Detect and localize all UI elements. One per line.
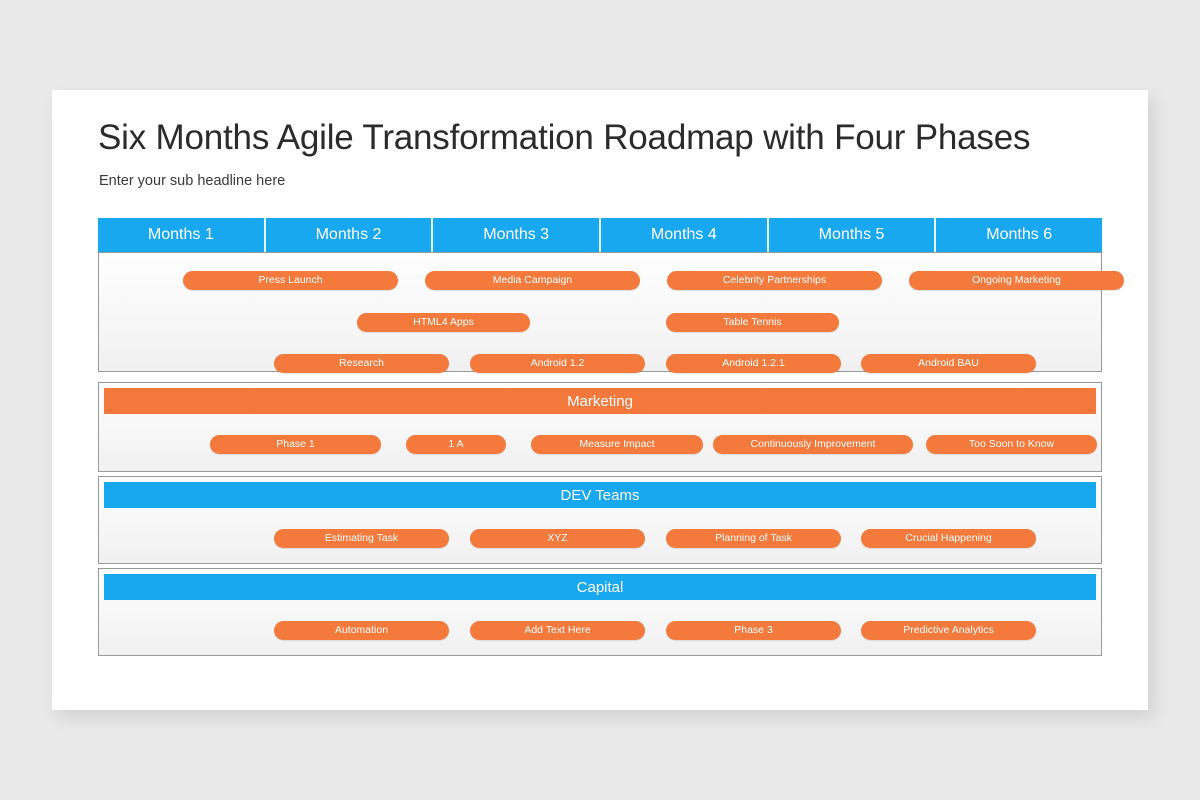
task-pill[interactable]: Measure Impact: [531, 435, 703, 454]
month-column-2[interactable]: Months 2: [266, 218, 434, 252]
month-column-6[interactable]: Months 6: [936, 218, 1102, 252]
task-pill[interactable]: Android 1.2.1: [666, 354, 841, 373]
band-header-dev-teams: DEV Teams: [104, 482, 1096, 508]
slide-card: Six Months Agile Transformation Roadmap …: [52, 90, 1148, 710]
band-capital: CapitalAutomationAdd Text HerePhase 3Pre…: [98, 568, 1102, 656]
task-pill[interactable]: Research: [274, 354, 449, 373]
task-pill[interactable]: 1 A: [406, 435, 506, 454]
task-pill[interactable]: Media Campaign: [425, 271, 640, 290]
page-title: Six Months Agile Transformation Roadmap …: [98, 118, 1030, 158]
task-pill[interactable]: Celebrity Partnerships: [667, 271, 882, 290]
band-dev-teams: DEV TeamsEstimating TaskXYZPlanning of T…: [98, 476, 1102, 564]
task-pill[interactable]: Android 1.2: [470, 354, 645, 373]
task-pill[interactable]: Continuously Improvement: [713, 435, 913, 454]
task-pill[interactable]: HTML4 Apps: [357, 313, 530, 332]
task-pill[interactable]: Estimating Task: [274, 529, 449, 548]
task-pill[interactable]: Phase 1: [210, 435, 381, 454]
months-timeline-header: Months 1Months 2Months 3Months 4Months 5…: [98, 218, 1102, 252]
task-pill[interactable]: Ongoing Marketing: [909, 271, 1124, 290]
band-timeline: Press LaunchMedia CampaignCelebrity Part…: [98, 252, 1102, 372]
task-pill[interactable]: XYZ: [470, 529, 645, 548]
band-header-marketing: Marketing: [104, 388, 1096, 414]
task-pill[interactable]: Phase 3: [666, 621, 841, 640]
band-marketing: MarketingPhase 11 AMeasure ImpactContinu…: [98, 382, 1102, 472]
month-column-5[interactable]: Months 5: [769, 218, 937, 252]
month-column-1[interactable]: Months 1: [98, 218, 266, 252]
task-pill[interactable]: Android BAU: [861, 354, 1036, 373]
task-pill[interactable]: Planning of Task: [666, 529, 841, 548]
month-column-4[interactable]: Months 4: [601, 218, 769, 252]
task-pill[interactable]: Predictive Analytics: [861, 621, 1036, 640]
task-pill[interactable]: Too Soon to Know: [926, 435, 1097, 454]
band-header-capital: Capital: [104, 574, 1096, 600]
page-subtitle: Enter your sub headline here: [99, 173, 285, 189]
task-pill[interactable]: Table Tennis: [666, 313, 839, 332]
task-pill[interactable]: Crucial Happening: [861, 529, 1036, 548]
task-pill[interactable]: Automation: [274, 621, 449, 640]
task-pill[interactable]: Press Launch: [183, 271, 398, 290]
month-column-3[interactable]: Months 3: [433, 218, 601, 252]
task-pill[interactable]: Add Text Here: [470, 621, 645, 640]
